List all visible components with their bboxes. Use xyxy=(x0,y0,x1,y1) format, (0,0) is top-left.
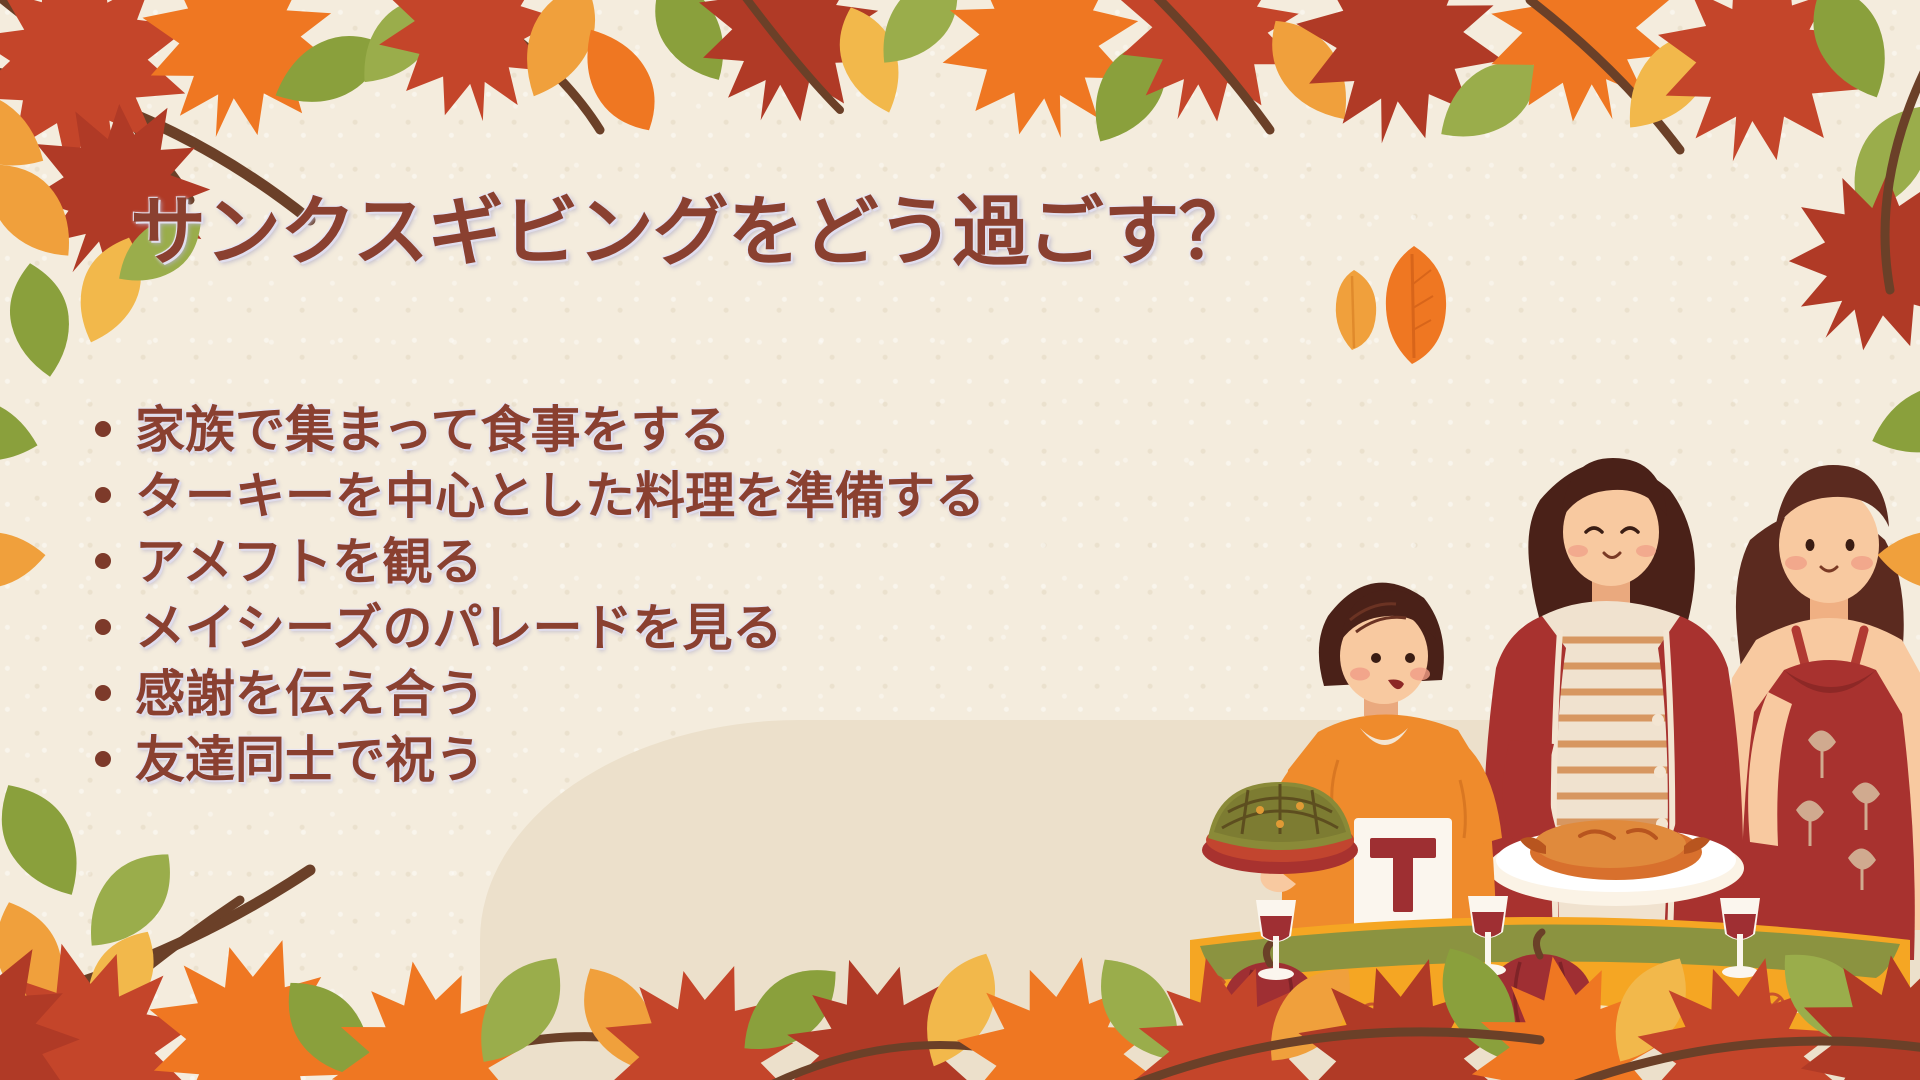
bullet-dot-icon xyxy=(95,487,111,503)
list-item-label: 家族で集まって食事をする xyxy=(135,390,731,462)
thanksgiving-family-dinner-illustration xyxy=(1160,340,1920,1040)
thanksgiving-slide: サンクスギビングをどう過ごす？ 家族で集まって食事をする ターキーを中心とした料… xyxy=(0,0,1920,1080)
bullet-dot-icon xyxy=(95,553,111,569)
list-item: 友達同士で祝う xyxy=(95,720,985,786)
list-item-label: アメフトを観る xyxy=(135,522,483,594)
floating-leaves-decoration xyxy=(1310,240,1490,380)
dinner-table xyxy=(1190,917,1910,1040)
list-item-label: 感謝を伝え合う xyxy=(135,654,485,726)
figure-woman-red-dress xyxy=(1722,465,1920,960)
bullet-dot-icon xyxy=(95,751,111,767)
page-title: サンクスギビングをどう過ごす？ xyxy=(130,170,1253,280)
list-item-label: ターキーを中心とした料理を準備する xyxy=(135,456,985,528)
list-item: アメフトを観る xyxy=(95,522,985,588)
list-item: 感謝を伝え合う xyxy=(95,654,985,720)
bullet-dot-icon xyxy=(95,421,111,437)
large-orange-leaf xyxy=(1386,246,1446,364)
small-orange-leaf xyxy=(1336,270,1376,350)
list-item: メイシーズのパレードを見る xyxy=(95,588,985,654)
bullet-dot-icon xyxy=(95,619,111,635)
list-item: ターキーを中心とした料理を準備する xyxy=(95,456,985,522)
list-item: 家族で集まって食事をする xyxy=(95,390,985,456)
list-item-label: メイシーズのパレードを見る xyxy=(135,588,783,660)
bullet-dot-icon xyxy=(95,685,111,701)
activity-list: 家族で集まって食事をする ターキーを中心とした料理を準備する アメフトを観る メ… xyxy=(95,390,985,786)
list-item-label: 友達同士で祝う xyxy=(135,720,485,792)
